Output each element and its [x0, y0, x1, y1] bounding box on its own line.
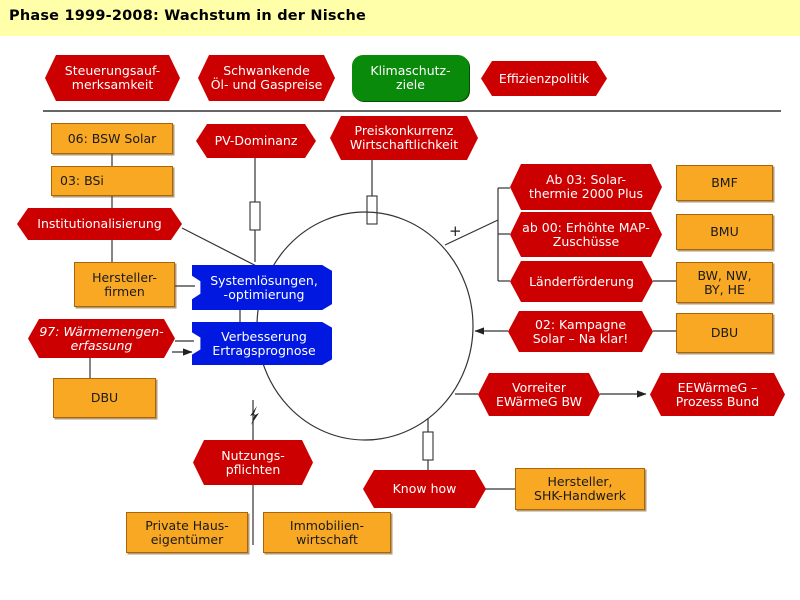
node-map-zuschuesse[interactable]: ab 00: Erhöhte MAP-Zuschüsse	[510, 212, 662, 257]
node-laender-list[interactable]: BW, NW,BY, HE	[676, 262, 773, 303]
node-label: BMF	[677, 176, 772, 190]
node-dbu-left[interactable]: DBU	[53, 378, 156, 418]
node-bmu[interactable]: BMU	[676, 214, 773, 250]
node-label: Länderförderung	[510, 275, 653, 289]
node-verbesserung-ertragsprognose[interactable]: VerbesserungErtragsprognose	[192, 322, 332, 365]
node-bsw-solar[interactable]: 06: BSW Solar	[51, 123, 173, 154]
plus-annotation: +	[449, 222, 462, 240]
node-nutzungspflichten[interactable]: Nutzungs-pflichten	[193, 440, 313, 485]
node-hersteller-shk-handwerk[interactable]: Hersteller,SHK-Handwerk	[515, 468, 645, 510]
node-label: Hersteller-firmen	[75, 271, 174, 299]
node-label: Immobilien-wirtschaft	[264, 519, 390, 547]
node-label: 06: BSW Solar	[52, 132, 172, 146]
node-solarthermie-2000-plus[interactable]: Ab 03: Solar-thermie 2000 Plus	[510, 164, 662, 210]
node-label: BW, NW,BY, HE	[677, 269, 772, 297]
node-preiskonkurrenz[interactable]: PreiskonkurrenzWirtschaftlichkeit	[330, 116, 478, 160]
node-kampagne-solar-na-klar[interactable]: 02: KampagneSolar – Na klar!	[508, 311, 653, 352]
node-steuerungsaufmerksamkeit[interactable]: Steuerungsauf-merksamkeit	[45, 55, 180, 101]
node-label: Know how	[363, 482, 486, 496]
node-bsi[interactable]: 03: BSi	[51, 166, 173, 196]
node-pv-dominanz[interactable]: PV-Dominanz	[196, 124, 316, 158]
node-vorreiter-ewaermeg-bw[interactable]: VorreiterEWärmeG BW	[478, 373, 600, 416]
node-label: Steuerungsauf-merksamkeit	[45, 64, 180, 92]
valve-symbol-knowhow	[423, 432, 433, 460]
node-schwankende-oel-gaspreise[interactable]: SchwankendeÖl- und Gaspreise	[198, 55, 335, 101]
node-label: VorreiterEWärmeG BW	[478, 381, 600, 409]
node-label: Ab 03: Solar-thermie 2000 Plus	[510, 173, 662, 201]
node-immobilienwirtschaft[interactable]: Immobilien-wirtschaft	[263, 512, 391, 553]
node-label: Klimaschutz-ziele	[352, 64, 469, 92]
node-laenderfoerderung[interactable]: Länderförderung	[510, 261, 653, 302]
node-label: PV-Dominanz	[196, 134, 316, 148]
node-private-hauseigentuemer[interactable]: Private Haus-eigentümer	[126, 512, 248, 553]
valve-symbol-pv	[250, 202, 260, 230]
node-institutionalisierung[interactable]: Institutionalisierung	[17, 208, 182, 240]
node-label: DBU	[677, 326, 772, 340]
node-label: BMU	[677, 225, 772, 239]
node-label: ab 00: Erhöhte MAP-Zuschüsse	[510, 221, 662, 249]
node-label: VerbesserungErtragsprognose	[192, 330, 332, 358]
node-label: Effizienzpolitik	[481, 72, 607, 86]
node-waermemengenerfassung[interactable]: 97: Wärmemengen-erfassung	[28, 319, 175, 358]
node-label: SchwankendeÖl- und Gaspreise	[198, 64, 335, 92]
node-bmf[interactable]: BMF	[676, 165, 773, 201]
node-label: 03: BSi	[52, 174, 172, 188]
node-dbu-right[interactable]: DBU	[676, 313, 773, 353]
node-label: 02: KampagneSolar – Na klar!	[508, 318, 653, 346]
node-label: DBU	[54, 391, 155, 405]
node-label: PreiskonkurrenzWirtschaftlichkeit	[330, 124, 478, 152]
node-label: EEWärmeG –Prozess Bund	[650, 381, 785, 409]
node-label: Private Haus-eigentümer	[127, 519, 247, 547]
node-know-how[interactable]: Know how	[363, 470, 486, 508]
lightning-icon	[250, 406, 259, 425]
node-label: Systemlösungen,-optimierung	[192, 274, 332, 302]
diagram-canvas: Phase 1999-2008: Wachstum in der Nische	[0, 0, 800, 600]
node-herstellerfirmen[interactable]: Hersteller-firmen	[74, 262, 175, 307]
node-label: Hersteller,SHK-Handwerk	[516, 475, 644, 503]
node-label: 97: Wärmemengen-erfassung	[28, 325, 175, 353]
node-label: Nutzungs-pflichten	[193, 449, 313, 477]
valve-symbol-preis	[367, 196, 377, 224]
node-systemloesungen[interactable]: Systemlösungen,-optimierung	[192, 265, 332, 310]
node-eewaermeg-prozess-bund[interactable]: EEWärmeG –Prozess Bund	[650, 373, 785, 416]
node-klimaschutzziele[interactable]: Klimaschutz-ziele	[352, 55, 469, 101]
node-effizienzpolitik[interactable]: Effizienzpolitik	[481, 61, 607, 96]
node-label: Institutionalisierung	[17, 217, 182, 231]
